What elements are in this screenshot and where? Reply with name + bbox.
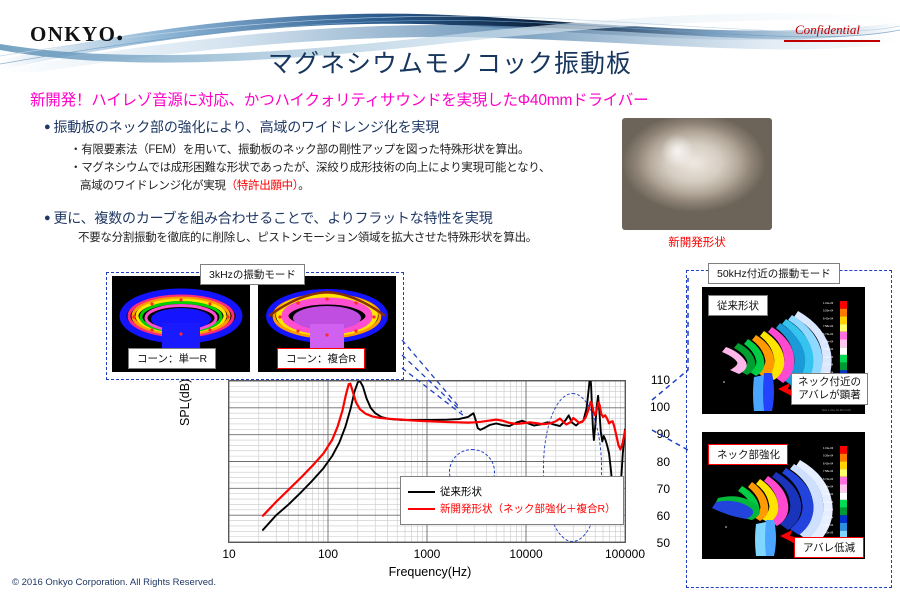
legend-item-conventional: 従来形状	[408, 484, 616, 499]
bullet-marker-icon: ●	[44, 212, 50, 224]
svg-text:5.05e-04: 5.05e-04	[823, 492, 834, 496]
svg-text:1.01e-03: 1.01e-03	[823, 301, 834, 305]
legend-item-new: 新開発形状（ネック部強化＋複合R）	[408, 501, 616, 516]
chart-y-tick: 90	[636, 427, 670, 441]
svg-text:1.68e-04: 1.68e-04	[823, 523, 834, 527]
chart-y-tick: 60	[636, 509, 670, 523]
svg-text:9.26e-04: 9.26e-04	[823, 454, 834, 458]
svg-text:3.37e-04: 3.37e-04	[823, 363, 834, 367]
chart-x-axis-label: Frequency(Hz)	[190, 565, 670, 579]
fem-right-caption: コーン：複合R	[277, 348, 365, 369]
svg-text:Max 1.01e-03 Min 0.00: Max 1.01e-03 Min 0.00	[822, 408, 851, 412]
svg-text:6.74e-04: 6.74e-04	[823, 332, 834, 336]
svg-text:5.89e-04: 5.89e-04	[823, 340, 834, 344]
top-annotation: ネック付近の アバレが顕著	[791, 373, 868, 405]
patent-pending-note: （特許出願中）	[226, 180, 299, 192]
bullet-2-heading: 更に、複数のカーブを組み合わせることで、よりフラットな特性を実現	[53, 210, 492, 226]
bullet-1-heading: 振動板のネック部の強化により、高域のワイドレンジ化を実現	[53, 119, 439, 135]
legend-swatch-red	[408, 508, 435, 510]
page-title: マグネシウムモノコック振動板	[0, 44, 900, 80]
reinforced-neck-label: ネック部強化	[708, 444, 788, 465]
bullet-1-line-3: 高域のワイドレンジ化が実現（特許出願中）。	[80, 179, 309, 194]
conventional-shape-label: 従来形状	[708, 295, 768, 316]
svg-text:8.42e-05: 8.42e-05	[823, 531, 834, 535]
legend-label-new: 新開発形状（ネック部強化＋複合R）	[440, 501, 616, 516]
svg-text:3.37e-04: 3.37e-04	[823, 508, 834, 512]
frequency-response-chart: SPL(dB) 110 100 90 80 70 60 50 従来形状 新開	[190, 352, 670, 584]
chart-x-tick: 1000	[414, 547, 441, 561]
driver-photo	[622, 118, 772, 230]
right-panel-tag: 50kHz付近の振動モード	[708, 263, 840, 284]
legend-label-conventional: 従来形状	[440, 484, 482, 499]
slide: ONKYO● Confidential マグネシウムモノコック振動板 新開発！ハ…	[0, 0, 900, 600]
top-annotation-line2: アバレが顕著	[798, 389, 861, 402]
copyright-footer: © 2016 Onkyo Corporation. All Rights Res…	[12, 577, 216, 588]
bullet-marker-icon: ●	[44, 121, 50, 133]
svg-text:4.21e-04: 4.21e-04	[823, 355, 834, 359]
top-annotation-line1: ネック付近の	[798, 376, 861, 389]
bullet-1-line-2: ・マグネシウムでは成形困難な形状であったが、深絞り成形技術の向上により実現可能と…	[70, 161, 550, 176]
confidential-label: Confidential	[795, 22, 860, 38]
fem-panel-tag: 3kHzの振動モード	[200, 264, 305, 285]
chart-x-tick: 100	[318, 547, 338, 561]
svg-text:4.21e-04: 4.21e-04	[823, 500, 834, 504]
bullet-1-line-3a: 高域のワイドレンジ化が実現	[80, 180, 226, 192]
confidential-underline	[784, 40, 880, 42]
lead-text: 新開発！ハイレゾ音源に対応、かつハイクォリティサウンドを実現したΦ40mmドライ…	[30, 88, 648, 110]
svg-text:8.42e-04: 8.42e-04	[823, 461, 834, 465]
bullet-1-line-1: ・有限要素法（FEM）を用いて、振動板のネック部の剛性アップを図った特殊形状を算…	[70, 143, 529, 158]
bullet-1: ●振動板のネック部の強化により、高域のワイドレンジ化を実現	[44, 117, 439, 137]
chart-y-axis-label: SPL(dB)	[178, 379, 192, 426]
chart-y-tick: 80	[636, 455, 670, 469]
svg-text:7.58e-04: 7.58e-04	[823, 324, 834, 328]
chart-legend: 従来形状 新開発形状（ネック部強化＋複合R）	[400, 476, 624, 525]
chart-y-tick: 110	[636, 373, 670, 387]
bullet-2-line-1: 不要な分割振動を徹底的に削除し、ピストンモーション領域を拡大させた特殊形状を算出…	[78, 231, 537, 246]
fem-left-caption: コーン：単一R	[128, 348, 216, 369]
svg-text:5.89e-04: 5.89e-04	[823, 485, 834, 489]
driver-photo-caption: 新開発形状	[622, 234, 772, 250]
legend-swatch-black	[408, 491, 435, 493]
svg-text:2.53e-04: 2.53e-04	[823, 515, 834, 519]
chart-x-tick: 10	[222, 547, 235, 561]
logo-dot: ●	[116, 32, 124, 44]
svg-text:1.01e-03: 1.01e-03	[823, 446, 834, 450]
svg-text:8.42e-04: 8.42e-04	[823, 316, 834, 320]
svg-text:7.58e-04: 7.58e-04	[823, 469, 834, 473]
bullet-1-line-3c: 。	[298, 180, 309, 192]
svg-text:9.26e-04: 9.26e-04	[823, 309, 834, 313]
chart-x-tick: 100000	[605, 547, 645, 561]
chart-x-tick: 10000	[509, 547, 542, 561]
chart-y-tick: 100	[636, 400, 670, 414]
bullet-2: ●更に、複数のカーブを組み合わせることで、よりフラットな特性を実現	[44, 208, 493, 228]
bottom-annotation: アバレ低減	[794, 537, 864, 558]
chart-y-tick: 70	[636, 482, 670, 496]
svg-text:6.74e-04: 6.74e-04	[823, 477, 834, 481]
svg-text:5.05e-04: 5.05e-04	[823, 347, 834, 351]
logo-text: ONKYO	[30, 22, 116, 46]
